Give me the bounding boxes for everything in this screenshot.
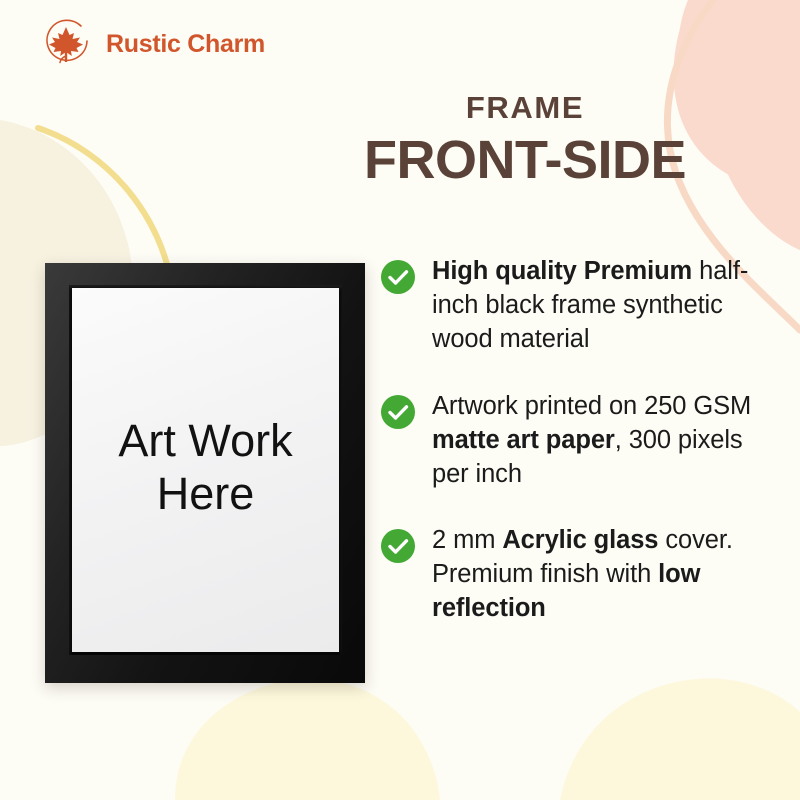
feature-list: High quality Premium half-inch black fra… <box>381 255 781 659</box>
feature-text: 2 mm Acrylic glass cover. Premium finish… <box>432 524 781 626</box>
feature-text-regular: 2 mm <box>432 526 502 554</box>
feature-text: Artwork printed on 250 GSM matte art pap… <box>432 390 781 492</box>
feature-text-regular: Artwork printed on 250 GSM <box>432 392 751 420</box>
check-circle-icon <box>381 260 415 294</box>
feature-text-bold: High quality Premium <box>432 257 692 285</box>
artwork-placeholder-text: Art Work Here <box>118 414 292 520</box>
feature-text-bold: matte art paper <box>432 426 615 454</box>
feature-text-bold: Acrylic glass <box>502 526 658 554</box>
picture-frame-mockup: Art Work Here <box>45 263 365 683</box>
frame-mat: Art Work Here <box>72 288 339 652</box>
bottom-left-yellow-blob <box>175 679 440 800</box>
heading-eyebrow: FRAME <box>290 92 760 125</box>
frame-bevel: Art Work Here <box>69 285 342 655</box>
feature-text: High quality Premium half-inch black fra… <box>432 255 781 357</box>
product-infographic: Rustic Charm FRAME FRONT-SIDE Art Work H… <box>0 0 800 800</box>
check-circle-icon <box>381 529 415 563</box>
feature-item: High quality Premium half-inch black fra… <box>381 255 781 357</box>
feature-item: Artwork printed on 250 GSM matte art pap… <box>381 390 781 492</box>
page-title: FRONT-SIDE <box>290 130 760 190</box>
brand-name: Rustic Charm <box>106 30 265 59</box>
header-block: FRAME FRONT-SIDE <box>290 92 760 190</box>
check-circle-icon <box>381 395 415 429</box>
brand-logo: Rustic Charm <box>38 16 265 72</box>
maple-leaf-icon <box>38 16 94 72</box>
bottom-right-yellow-blob <box>560 679 800 800</box>
feature-item: 2 mm Acrylic glass cover. Premium finish… <box>381 524 781 626</box>
